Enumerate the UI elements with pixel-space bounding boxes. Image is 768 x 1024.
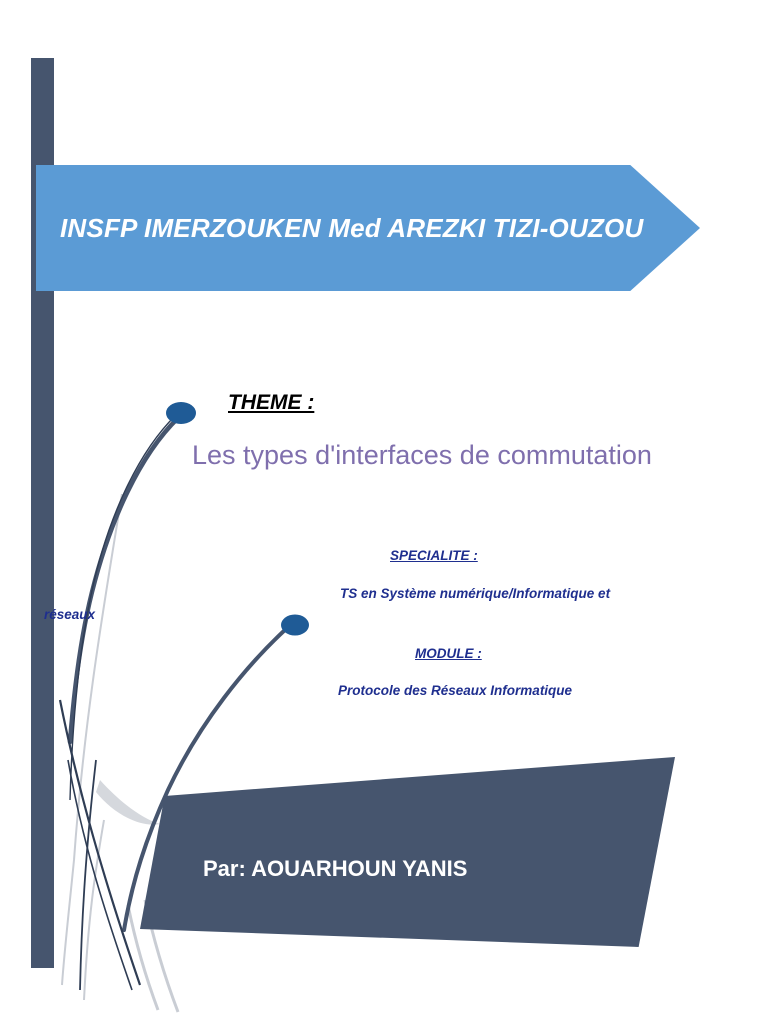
grey-stem-line-2	[84, 820, 104, 1000]
theme-title: Les types d'interfaces de commutation	[192, 440, 652, 471]
grey-stem-line-1	[62, 494, 122, 985]
specialite-label: SPECIALITE :	[390, 548, 478, 563]
module-value: Protocole des Réseaux Informatique	[338, 683, 572, 698]
crossing-line-1	[60, 700, 140, 985]
stem-line-upper-dot	[70, 418, 178, 742]
module-label: MODULE :	[415, 646, 482, 661]
header-title: INSFP IMERZOUKEN Med AREZKI TIZI-OUZOU	[36, 213, 643, 244]
theme-label: THEME :	[228, 391, 314, 415]
author-banner	[140, 757, 675, 947]
blue-bullet-dot-upper	[166, 402, 196, 424]
crossing-line-2	[68, 760, 132, 990]
author-name: Par: AOUARHOUN YANIS	[203, 856, 467, 882]
crossing-line-3	[80, 760, 96, 990]
header-arrow-banner: INSFP IMERZOUKEN Med AREZKI TIZI-OUZOU	[36, 165, 700, 291]
specialite-value-continuation: réseaux	[44, 607, 95, 622]
specialite-value: TS en Système numérique/Informatique et	[340, 586, 610, 601]
blue-bullet-dot-lower	[281, 615, 309, 636]
document-page: INSFP IMERZOUKEN Med AREZKI TIZI-OUZOU T…	[0, 0, 768, 1024]
grey-leaf-shape	[96, 780, 160, 825]
